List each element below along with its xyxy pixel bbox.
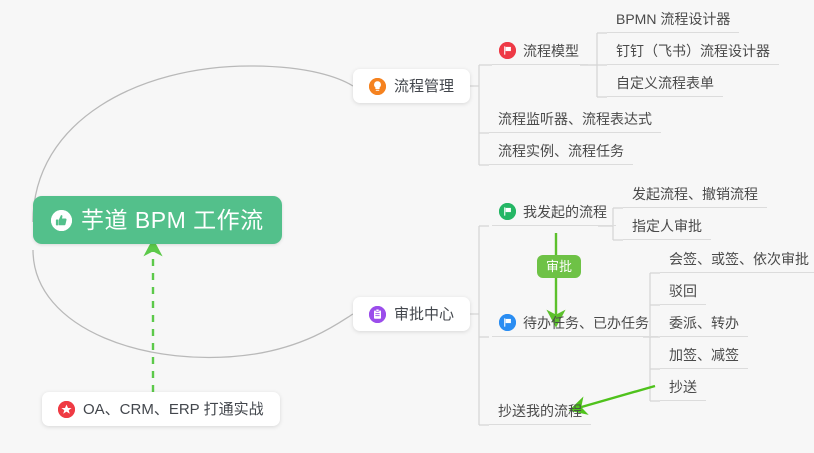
leaf-label-custom-form: 自定义流程表单 bbox=[616, 76, 714, 90]
leaf-label-delegate-transfer: 委派、转办 bbox=[669, 316, 739, 330]
clipboard-icon bbox=[369, 306, 386, 323]
topic-label-todo-done: 待办任务、已办任务 bbox=[523, 316, 649, 330]
leaf-add-remove-sign[interactable]: 加签、减签 bbox=[660, 341, 748, 369]
leaf-countersign[interactable]: 会签、或签、依次审批 bbox=[660, 245, 814, 273]
leaf-initiate-cancel[interactable]: 发起流程、撤销流程 bbox=[623, 180, 767, 208]
lightbulb-icon bbox=[369, 78, 386, 95]
topic-my-initiated[interactable]: 我发起的流程 bbox=[492, 198, 616, 226]
topic-cc-to-me[interactable]: 抄送我的流程 bbox=[489, 397, 591, 425]
flag-icon bbox=[499, 314, 516, 331]
root-node[interactable]: 芋道 BPM 工作流 bbox=[33, 196, 282, 244]
thumbs-up-icon bbox=[51, 210, 72, 231]
topic-label-process-instance: 流程实例、流程任务 bbox=[498, 144, 624, 158]
leaf-dingtalk-designer[interactable]: 钉钉（飞书）流程设计器 bbox=[607, 37, 779, 65]
leaf-label-dingtalk-designer: 钉钉（飞书）流程设计器 bbox=[616, 44, 770, 58]
flag-icon bbox=[499, 42, 516, 59]
badge-approval[interactable]: 审批 bbox=[537, 255, 581, 278]
leaf-reject[interactable]: 驳回 bbox=[660, 277, 706, 305]
branch-label-approval-center: 审批中心 bbox=[394, 307, 454, 322]
leaf-label-add-remove-sign: 加签、减签 bbox=[669, 348, 739, 362]
leaf-label-cc: 抄送 bbox=[669, 380, 697, 394]
topic-label-my-initiated: 我发起的流程 bbox=[523, 205, 607, 219]
leaf-cc[interactable]: 抄送 bbox=[660, 373, 706, 401]
star-icon bbox=[58, 401, 75, 418]
leaf-label-countersign: 会签、或签、依次审批 bbox=[669, 252, 809, 266]
flag-icon bbox=[499, 203, 516, 220]
leaf-label-bpmn-designer: BPMN 流程设计器 bbox=[616, 12, 730, 26]
topic-label-cc-to-me: 抄送我的流程 bbox=[498, 404, 582, 418]
leaf-bpmn-designer[interactable]: BPMN 流程设计器 bbox=[607, 5, 739, 33]
topic-process-model[interactable]: 流程模型 bbox=[492, 37, 588, 65]
leaf-label-initiate-cancel: 发起流程、撤销流程 bbox=[632, 187, 758, 201]
topic-todo-done[interactable]: 待办任务、已办任务 bbox=[492, 309, 658, 337]
leaf-label-reject: 驳回 bbox=[669, 284, 697, 298]
leaf-label-assignee-approval: 指定人审批 bbox=[632, 219, 702, 233]
branch-node-process-management[interactable]: 流程管理 bbox=[353, 69, 470, 103]
branch-label-process-management: 流程管理 bbox=[394, 79, 454, 94]
topic-process-listener[interactable]: 流程监听器、流程表达式 bbox=[489, 105, 661, 133]
leaf-custom-form[interactable]: 自定义流程表单 bbox=[607, 69, 723, 97]
leaf-assignee-approval[interactable]: 指定人审批 bbox=[623, 212, 711, 240]
leaf-delegate-transfer[interactable]: 委派、转办 bbox=[660, 309, 748, 337]
mindmap-canvas: 芋道 BPM 工作流 流程管理 审批中心 bbox=[0, 0, 814, 453]
footer-node-label: OA、CRM、ERP 打通实战 bbox=[83, 402, 264, 417]
root-label: 芋道 BPM 工作流 bbox=[81, 209, 264, 232]
footer-node-integration[interactable]: OA、CRM、ERP 打通实战 bbox=[42, 392, 280, 426]
branch-node-approval-center[interactable]: 审批中心 bbox=[353, 297, 470, 331]
badge-approval-label: 审批 bbox=[546, 259, 572, 274]
topic-process-instance[interactable]: 流程实例、流程任务 bbox=[489, 137, 633, 165]
topic-label-process-model: 流程模型 bbox=[523, 44, 579, 58]
topic-label-process-listener: 流程监听器、流程表达式 bbox=[498, 112, 652, 126]
connector-root-to-approval-center bbox=[33, 250, 353, 357]
